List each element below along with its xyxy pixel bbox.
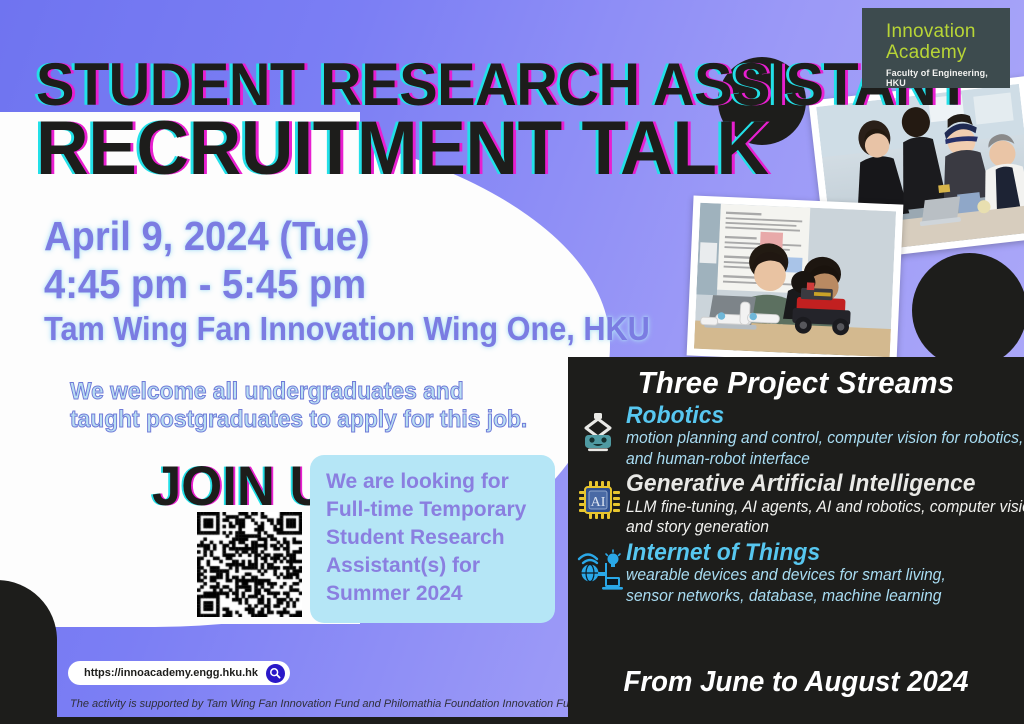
page-title: STUDENT RESEARCH ASSISTANT RECRUITMENT T… [36,57,706,184]
svg-text:AI: AI [591,495,606,510]
website-url-pill[interactable]: https://innoacademy.engg.hku.hk [68,661,290,685]
support-note: The activity is supported by Tam Wing Fa… [60,694,594,714]
stream-generative-ai: AI Generative Artificial Intelligence LL… [568,472,1024,537]
welcome-message: We welcome all undergraduates and taught… [70,378,590,435]
bottom-dark-strip [0,717,1024,724]
poster-root: Innovation Academy Faculty of Engineerin… [0,0,1024,724]
project-streams-panel: Three Project Streams Robotics motion pl… [568,357,1024,717]
event-venue: Tam Wing Fan Innovation Wing One, HKU [44,310,565,348]
panel-title: Three Project Streams [579,365,1012,401]
search-icon[interactable] [266,664,285,683]
event-time: 4:45 pm - 5:45 pm [44,261,565,309]
stream-iot-body-1: wearable devices and devices for smart l… [626,566,1004,585]
stream-robotics-heading: Robotics [626,404,1004,428]
logo-subtitle: Faculty of Engineering, HKU [886,68,1010,88]
robot-icon [576,410,620,454]
dark-circle-right-decoration [912,253,1024,368]
headline-line-1: STUDENT RESEARCH ASSISTANT [36,57,679,112]
welcome-line-1: We welcome all undergraduates and [70,378,564,406]
robot-glyph [576,410,620,454]
looking-for-callout: We are looking for Full-time Temporary S… [310,455,555,623]
ai-chip-icon: AI [576,478,620,522]
logo-line-2: Academy [886,43,1010,64]
looking-line-5: Summer 2024 [326,580,541,608]
ai-chip-glyph: AI [576,478,620,522]
stream-internet-of-things: Internet of Things wearable devices and … [568,541,1024,606]
event-date: April 9, 2024 (Tue) [44,213,565,261]
innovation-academy-logo: Innovation Academy Faculty of Engineerin… [862,8,1010,88]
qr-code-canvas[interactable] [197,512,302,617]
photo-students-robot-build: ENGI [687,195,904,364]
looking-line-1: We are looking for [326,468,541,496]
stream-robotics: Robotics motion planning and control, co… [568,404,1024,469]
website-url-text: https://innoacademy.engg.hku.hk [84,667,258,679]
looking-line-4: Assistant(s) for [326,552,541,580]
stream-genai-heading: Generative Artificial Intelligence [626,472,1004,496]
panel-footer-period: From June to August 2024 [579,666,1012,699]
stream-robotics-body-1: motion planning and control, computer vi… [626,429,1004,448]
qr-code[interactable] [197,512,302,617]
search-glyph [269,667,281,679]
welcome-line-2: taught postgraduates to apply for this j… [70,406,564,434]
headline-line-2: RECRUITMENT TALK [36,114,679,184]
looking-line-3: Student Research [326,524,541,552]
stream-genai-body-1: LLM fine-tuning, AI agents, AI and robot… [626,498,1004,517]
support-note-text: The activity is supported by Tam Wing Fa… [70,698,584,710]
stream-iot-body-2: sensor networks, database, machine learn… [626,587,1004,606]
iot-glyph [576,547,624,591]
looking-line-2: Full-time Temporary [326,496,541,524]
logo-line-1: Innovation [886,22,1010,43]
event-details: April 9, 2024 (Tue) 4:45 pm - 5:45 pm Ta… [44,213,604,348]
stream-iot-heading: Internet of Things [626,541,1004,565]
stream-robotics-body-2: and human-robot interface [626,450,1004,469]
stream-genai-body-2: and story generation [626,518,1004,537]
iot-network-icon [576,547,620,591]
photo-bottom-illustration: ENGI [694,203,896,357]
